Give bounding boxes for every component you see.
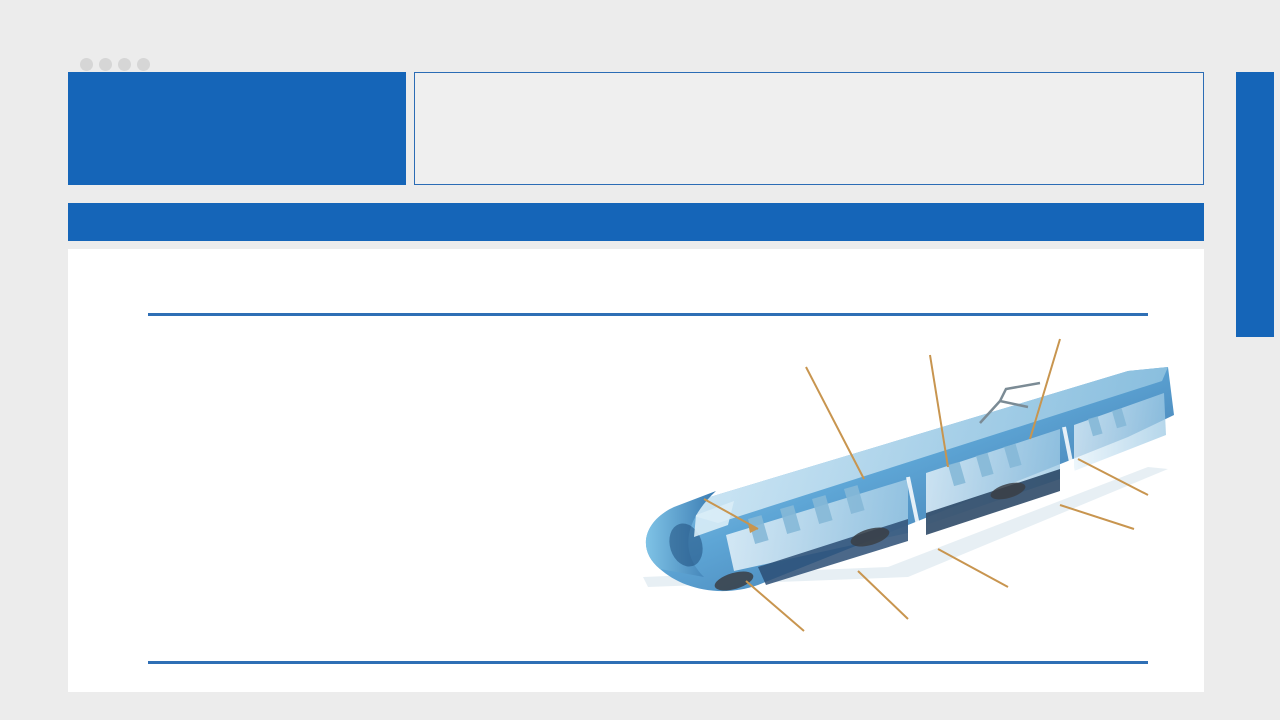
emphasis-banner [68, 203, 1204, 241]
divider-bottom [148, 661, 1148, 664]
chart-panel [68, 249, 1204, 692]
side-tab[interactable] [1236, 72, 1274, 337]
divider-top [148, 313, 1148, 316]
slide-canvas [0, 0, 1280, 720]
decorative-dots [80, 58, 150, 71]
train-illustration-svg [608, 319, 1188, 659]
train-diagram [608, 319, 1188, 659]
dot-icon [118, 58, 131, 71]
dot-icon [137, 58, 150, 71]
slide-title-block [68, 72, 406, 185]
pie-chart-svg [156, 359, 412, 615]
intro-text-card [414, 72, 1204, 185]
dot-icon [99, 58, 112, 71]
dot-icon [80, 58, 93, 71]
pie-chart [156, 359, 426, 629]
